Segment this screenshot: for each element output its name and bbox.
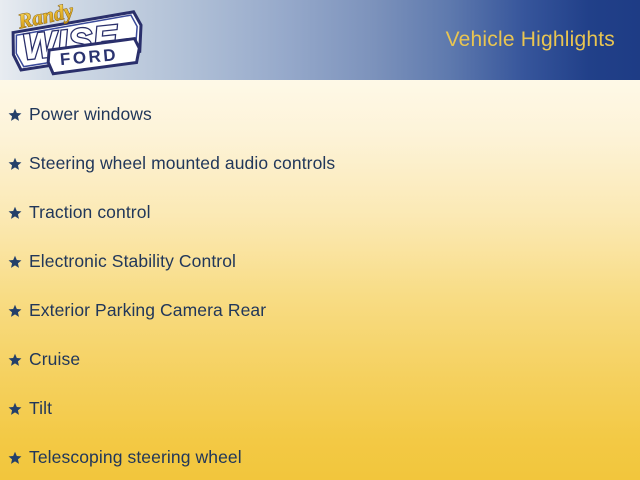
- list-item: Cruise: [0, 335, 640, 384]
- list-item: Tilt: [0, 384, 640, 433]
- list-item: Telescoping steering wheel: [0, 433, 640, 480]
- list-item-label: Tilt: [29, 398, 52, 419]
- list-item-label: Power windows: [29, 104, 152, 125]
- slide-header: WISE FORD Randy Vehicle Highlights: [0, 0, 640, 80]
- star-icon: [8, 451, 22, 465]
- list-item-label: Cruise: [29, 349, 80, 370]
- list-item: Steering wheel mounted audio controls: [0, 139, 640, 188]
- star-icon: [8, 157, 22, 171]
- list-item-label: Steering wheel mounted audio controls: [29, 153, 335, 174]
- star-icon: [8, 304, 22, 318]
- star-icon: [8, 108, 22, 122]
- vehicle-highlights-slide: WISE FORD Randy Vehicle Highlights Power…: [0, 0, 640, 480]
- star-icon: [8, 402, 22, 416]
- page-title: Vehicle Highlights: [446, 28, 615, 52]
- star-icon: [8, 255, 22, 269]
- list-item-label: Exterior Parking Camera Rear: [29, 300, 266, 321]
- star-icon: [8, 353, 22, 367]
- list-item: Electronic Stability Control: [0, 237, 640, 286]
- list-item: Exterior Parking Camera Rear: [0, 286, 640, 335]
- list-item-label: Telescoping steering wheel: [29, 447, 242, 468]
- vehicle-highlights-list: Power windows Steering wheel mounted aud…: [0, 80, 640, 480]
- list-item: Traction control: [0, 188, 640, 237]
- list-item-label: Electronic Stability Control: [29, 251, 236, 272]
- randy-wise-ford-logo: WISE FORD Randy: [8, 2, 148, 78]
- list-item: Power windows: [0, 90, 640, 139]
- list-item-label: Traction control: [29, 202, 151, 223]
- star-icon: [8, 206, 22, 220]
